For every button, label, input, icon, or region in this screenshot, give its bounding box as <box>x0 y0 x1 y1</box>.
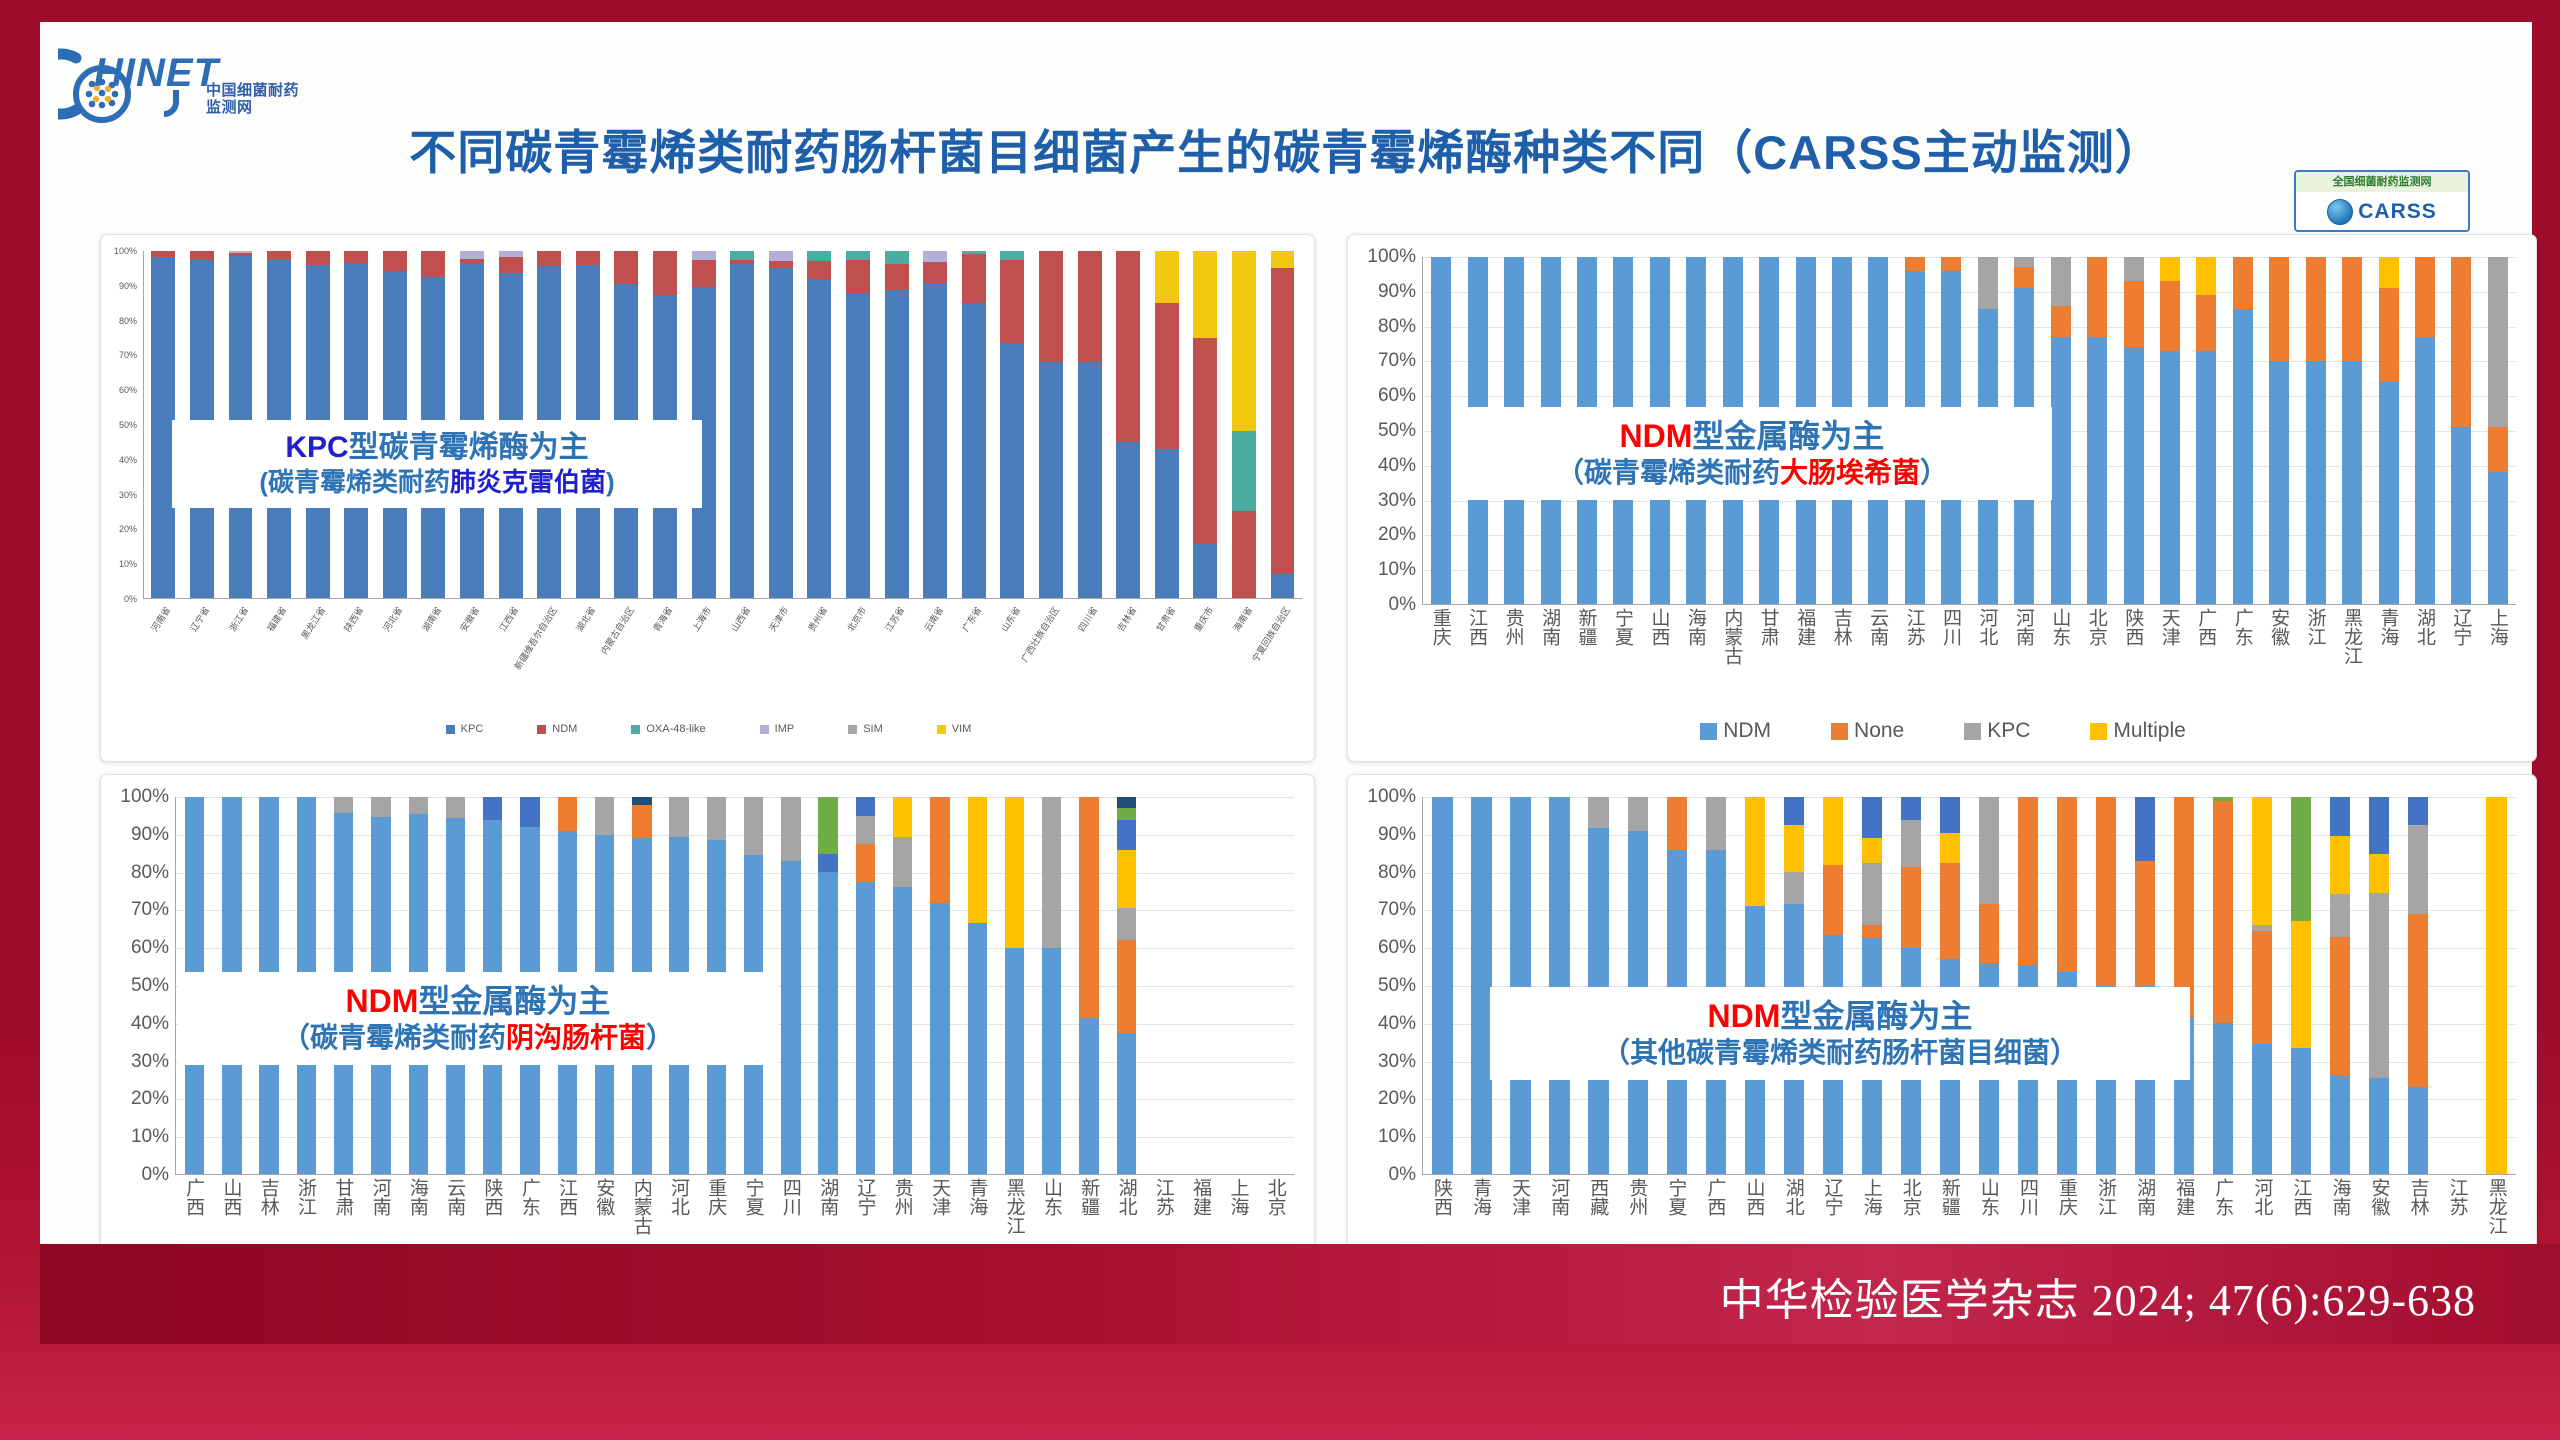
bar-segment <box>2135 861 2155 985</box>
bar-segment <box>1042 948 1061 1174</box>
bar-column[interactable] <box>884 797 921 1174</box>
stacked-bar[interactable] <box>2488 257 2508 604</box>
stacked-bar[interactable] <box>2408 797 2428 1174</box>
stacked-bar[interactable] <box>962 251 986 598</box>
bar-column[interactable] <box>1657 797 1696 1174</box>
bar-column[interactable] <box>2048 797 2087 1174</box>
bar-segment <box>893 887 912 1174</box>
legend-item[interactable]: KPC <box>1964 719 2030 743</box>
bar-column[interactable] <box>1147 251 1186 598</box>
stacked-bar[interactable] <box>1000 251 1024 598</box>
bar-segment <box>1784 797 1804 825</box>
bar-column[interactable] <box>2243 797 2282 1174</box>
x-axis-tick-label: 云南 <box>1859 608 1895 671</box>
stacked-bar[interactable] <box>1940 797 1960 1174</box>
stacked-bar[interactable] <box>1042 797 1061 1174</box>
x-axis-tick-label: 江西 <box>548 1178 585 1241</box>
bar-column[interactable] <box>1696 797 1735 1174</box>
stacked-bar[interactable] <box>1706 797 1726 1174</box>
bar-segment <box>1117 808 1136 819</box>
bar-segment <box>1940 863 1960 959</box>
x-axis-tick-label: 河南 <box>2005 608 2041 671</box>
stacked-bar[interactable] <box>2330 797 2350 1174</box>
x-axis-tick-text: 江西 <box>557 1178 576 1216</box>
bar-segment <box>856 882 875 1174</box>
x-axis-tick-text: 湖北 <box>1784 1178 1803 1216</box>
stacked-bar[interactable] <box>2486 797 2506 1174</box>
bar-segment <box>421 251 445 277</box>
y-axis-tick-label: 50% <box>101 420 137 430</box>
bar-segment <box>2408 825 2428 914</box>
stacked-bar[interactable] <box>1154 797 1173 1174</box>
stacked-bar[interactable] <box>2451 257 2471 604</box>
bar-column[interactable] <box>1774 797 1813 1174</box>
x-axis-tick-text: 新疆 <box>1079 1178 1098 1216</box>
stacked-bar[interactable] <box>2018 797 2038 1174</box>
bar-segment <box>1000 260 1024 343</box>
bar-column[interactable] <box>1186 251 1225 598</box>
stacked-bar[interactable] <box>1228 797 1247 1174</box>
x-axis-tick-label: 浙江 <box>2086 1178 2125 1241</box>
bar-column[interactable] <box>2407 257 2443 604</box>
bar-column[interactable] <box>1109 251 1148 598</box>
carss-badge-top-text: 全国细菌耐药监测网 <box>2296 172 2468 192</box>
bar-segment <box>1901 797 1921 820</box>
bar-segment <box>1232 431 1256 511</box>
x-axis-tick-text: 海南 <box>408 1178 427 1216</box>
bar-column[interactable] <box>1969 797 2008 1174</box>
bar-column[interactable] <box>2225 257 2261 604</box>
bar-segment <box>885 251 909 264</box>
x-axis-tick-label: 广西 <box>175 1178 212 1241</box>
x-axis-tick-text: 宁夏 <box>1613 608 1632 646</box>
bar-column[interactable] <box>2370 257 2406 604</box>
bar-segment <box>2369 893 2389 1078</box>
legend-swatch <box>760 725 769 734</box>
stacked-bar[interactable] <box>968 797 987 1174</box>
bar-segment <box>1116 251 1140 442</box>
stacked-bar[interactable] <box>2306 257 2326 604</box>
bar-segment <box>2369 1078 2389 1174</box>
x-axis-tick-text: 辽宁 <box>855 1178 874 1216</box>
bar-column[interactable] <box>1070 797 1107 1174</box>
stacked-bar[interactable] <box>2096 797 2116 1174</box>
x-axis-tick-label: 山东 <box>1969 1178 2008 1241</box>
bar-column[interactable] <box>1813 797 1852 1174</box>
x-axis-tick-text: 辽宁 <box>1823 1178 1842 1216</box>
bar-column[interactable] <box>1257 797 1294 1174</box>
x-axis-tick-text: 河北 <box>1978 608 1997 646</box>
x-axis-tick-label: 江苏 <box>2438 1178 2477 1241</box>
stacked-bar[interactable] <box>2447 797 2467 1174</box>
legend-swatch <box>2090 723 2107 740</box>
stacked-bar[interactable] <box>769 251 793 598</box>
legend-swatch <box>1831 723 1848 740</box>
stacked-bar[interactable] <box>2233 257 2253 604</box>
bar-column[interactable] <box>993 251 1032 598</box>
x-axis-tick-text: 广东 <box>2213 1178 2232 1216</box>
legend-item[interactable]: SIM <box>848 723 883 735</box>
bar-segment <box>2451 257 2471 427</box>
bar-segment <box>2369 797 2389 854</box>
legend-swatch <box>446 725 455 734</box>
logo-sub-line1: 中国细菌耐药 <box>206 82 299 99</box>
bar-column[interactable] <box>2126 797 2165 1174</box>
bar-column[interactable] <box>1032 251 1071 598</box>
bar-column[interactable] <box>959 797 996 1174</box>
x-axis-tick-label: 上海 <box>1219 1178 1256 1241</box>
bar-column[interactable] <box>1423 797 1462 1174</box>
stacked-bar[interactable] <box>1193 251 1217 598</box>
bar-column[interactable] <box>847 797 884 1174</box>
bar-column[interactable] <box>2008 797 2047 1174</box>
y-axis-tick-label: 60% <box>1348 937 1416 959</box>
bar-segment <box>267 251 291 260</box>
bar-column[interactable] <box>2321 797 2360 1174</box>
stacked-bar[interactable] <box>1191 797 1210 1174</box>
x-axis-tick-text: 北京 <box>1901 1178 1920 1216</box>
bar-column[interactable] <box>996 797 1033 1174</box>
bar-segment <box>846 260 870 293</box>
y-axis-tick-label: 50% <box>1348 420 1416 442</box>
legend-item[interactable]: OXA-48-like <box>631 723 705 735</box>
bar-column[interactable] <box>2443 257 2479 604</box>
bar-column[interactable] <box>2298 257 2334 604</box>
bar-segment <box>2415 337 2435 604</box>
stacked-bar[interactable] <box>846 251 870 598</box>
bar-segment <box>2196 351 2216 604</box>
bar-segment <box>1432 797 1452 1174</box>
bar-column[interactable] <box>1891 797 1930 1174</box>
bar-segment <box>2330 797 2350 836</box>
bar-segment <box>1940 797 1960 833</box>
bar-column[interactable] <box>2165 797 2204 1174</box>
legend-item[interactable]: NDM <box>1700 719 1771 743</box>
x-axis-tick-text: 新疆 <box>1940 1178 1959 1216</box>
x-axis-tick-text: 河南 <box>2014 608 2033 646</box>
bar-column[interactable] <box>1182 797 1219 1174</box>
bar-segment <box>1232 511 1256 598</box>
stacked-bar[interactable] <box>1078 251 1102 598</box>
stacked-bar[interactable] <box>1667 797 1687 1174</box>
bar-column[interactable] <box>2399 797 2438 1174</box>
stacked-bar[interactable] <box>781 797 800 1174</box>
stacked-bar[interactable] <box>730 251 754 598</box>
y-axis-tick-label: 10% <box>101 559 137 569</box>
bar-segment <box>692 251 716 260</box>
x-axis-tick-label: 重庆 <box>1422 608 1458 671</box>
bar-column[interactable] <box>2477 797 2516 1174</box>
stacked-bar[interactable] <box>1116 251 1140 598</box>
legend-item[interactable]: IMP <box>760 723 795 735</box>
bar-segment <box>190 251 214 260</box>
x-axis-tick-label: 陕西 <box>473 1178 510 1241</box>
bar-column[interactable] <box>2188 257 2224 604</box>
x-axis-tick-text: 安徽 <box>2269 608 2288 646</box>
x-axis-tick-label: 新疆 <box>1930 1178 1969 1241</box>
bar-column[interactable] <box>877 251 916 598</box>
bar-column[interactable] <box>2334 257 2370 604</box>
bar-column[interactable] <box>1930 797 1969 1174</box>
bar-column[interactable] <box>916 251 955 598</box>
bar-column[interactable] <box>954 251 993 598</box>
stacked-bar[interactable] <box>893 797 912 1174</box>
stacked-bar[interactable] <box>1745 797 1765 1174</box>
bar-segment <box>1510 797 1530 1174</box>
x-axis-tick-text: 青海 <box>2379 608 2398 646</box>
x-axis-tick-label: 贵州 <box>1495 608 1531 671</box>
bar-column[interactable] <box>1501 797 1540 1174</box>
bar-segment <box>962 254 986 303</box>
bar-column[interactable] <box>1108 797 1145 1174</box>
y-axis-tick-label: 40% <box>1348 455 1416 477</box>
x-axis-tick-label: 贵州 <box>1617 1178 1656 1241</box>
stacked-bar[interactable] <box>807 251 831 598</box>
stacked-bar[interactable] <box>2269 257 2289 604</box>
callout-line2: （碳青霉烯类耐药阴沟肠杆菌） <box>194 1021 762 1055</box>
bar-column[interactable] <box>2261 257 2297 604</box>
stacked-bar[interactable] <box>1901 797 1921 1174</box>
bar-segment <box>595 797 614 835</box>
bar-segment <box>2087 257 2107 337</box>
bar-column[interactable] <box>762 251 801 598</box>
y-axis-tick-label: 90% <box>1348 281 1416 303</box>
stacked-bar[interactable] <box>1823 797 1843 1174</box>
bar-column[interactable] <box>2204 797 2243 1174</box>
stacked-bar[interactable] <box>2087 257 2107 604</box>
x-axis-tick-text: 陕西 <box>483 1178 502 1216</box>
x-axis-tick-text: 河南 <box>371 1178 390 1216</box>
bar-column[interactable] <box>2087 797 2126 1174</box>
legend-item[interactable]: Multiple <box>2090 719 2185 743</box>
x-axis-tick-label: 上海 <box>1852 1178 1891 1241</box>
stacked-bar[interactable] <box>1155 251 1179 598</box>
bar-column[interactable] <box>1852 797 1891 1174</box>
bar-column[interactable] <box>1033 797 1070 1174</box>
callout-line2: (碳青霉烯类耐药肺炎克雷伯菌) <box>188 467 686 499</box>
bar-column[interactable] <box>2480 257 2516 604</box>
stacked-bar[interactable] <box>2174 797 2194 1174</box>
bar-segment <box>730 251 754 260</box>
x-axis-tick-label: 宁夏 <box>1604 608 1640 671</box>
legend-item[interactable]: VIM <box>937 723 972 735</box>
bar-segment <box>1042 797 1061 948</box>
bar-column[interactable] <box>1219 797 1256 1174</box>
bar-column[interactable] <box>723 251 762 598</box>
bar-segment <box>1862 925 1882 938</box>
x-axis-tick-label: 湖南 <box>809 1178 846 1241</box>
bar-segment <box>2160 257 2180 281</box>
stacked-bar[interactable] <box>1117 797 1136 1174</box>
bar-segment <box>1117 850 1136 908</box>
bar-segment <box>1431 257 1451 604</box>
bar-segment <box>1784 872 1804 904</box>
stacked-bar[interactable] <box>923 251 947 598</box>
stacked-bar[interactable] <box>2342 257 2362 604</box>
stacked-bar[interactable] <box>1232 251 1256 598</box>
bar-segment <box>2379 288 2399 382</box>
bar-column[interactable] <box>2438 797 2477 1174</box>
bar-segment <box>2196 295 2216 351</box>
y-axis-tick-label: 60% <box>101 937 169 959</box>
x-axis-tick-label: 陕西 <box>1422 1178 1461 1241</box>
stacked-bar[interactable] <box>2124 257 2144 604</box>
x-axis-tick-label: 青海 <box>1461 1178 1500 1241</box>
stacked-bar[interactable] <box>1005 797 1024 1174</box>
x-axis-tick-label: 天津 <box>2151 608 2187 671</box>
x-axis-tick-label: 吉林 <box>2399 1178 2438 1241</box>
bar-column[interactable] <box>1070 251 1109 598</box>
bar-segment <box>2306 257 2326 361</box>
stacked-bar[interactable] <box>1271 251 1295 598</box>
stacked-bar[interactable] <box>2051 257 2071 604</box>
stacked-bar[interactable] <box>2415 257 2435 604</box>
bar-segment <box>1901 820 1921 867</box>
x-axis-tick-text: 湖南 <box>818 1178 837 1216</box>
x-axis-tick-label: 广东 <box>511 1178 548 1241</box>
callout-line1-rest: 型碳青霉烯酶为主 <box>349 431 589 464</box>
x-axis-tick-text: 河北 <box>2252 1178 2271 1216</box>
bar-segment <box>334 797 353 813</box>
stacked-bar[interactable] <box>2369 797 2389 1174</box>
stacked-bar[interactable] <box>2291 797 2311 1174</box>
stacked-bar[interactable] <box>2379 257 2399 604</box>
stacked-bar[interactable] <box>1431 257 1451 604</box>
x-axis-tick-text: 山东 <box>2050 608 2069 646</box>
stacked-bar[interactable] <box>2196 257 2216 604</box>
callout-line2-pre: （其他碳青霉烯类耐药肠杆菌目细菌 <box>1602 1037 2050 1068</box>
stacked-bar[interactable] <box>1784 797 1804 1174</box>
y-axis-tick-label: 0% <box>101 1164 169 1186</box>
y-axis-tick-label: 10% <box>1348 1126 1416 1148</box>
y-axis-tick-label: 0% <box>101 594 137 604</box>
bar-segment <box>1901 867 1921 948</box>
x-axis-tick-text: 云南 <box>445 1178 464 1216</box>
y-axis-tick-label: 0% <box>1348 594 1416 616</box>
slide-content-card: HINET 中国细菌耐药 监测网 不同碳青霉烯类耐药肠杆菌目细菌产生的碳青霉烯酶… <box>40 22 2532 1344</box>
bar-column[interactable] <box>1618 797 1657 1174</box>
bar-column[interactable] <box>1735 797 1774 1174</box>
x-axis-tick-text: 福建 <box>1795 608 1814 646</box>
bar-column[interactable] <box>1579 797 1618 1174</box>
stacked-bar[interactable] <box>1588 797 1608 1174</box>
x-axis-tick-label: 北京 <box>2078 608 2114 671</box>
x-axis-tick-label: 安徽 <box>2360 1178 2399 1241</box>
bar-column[interactable] <box>921 797 958 1174</box>
callout-line2-highlight: 阴沟肠杆菌 <box>506 1022 646 1053</box>
x-axis-tick-text: 山东 <box>1042 1178 1061 1216</box>
globe-icon <box>2327 199 2353 225</box>
x-axis-tick-text: 湖北 <box>2415 608 2434 646</box>
bar-column[interactable] <box>2079 257 2115 604</box>
bar-segment <box>846 251 870 260</box>
callout-line2-post: ） <box>2050 1037 2078 1068</box>
bar-segment <box>2408 1087 2428 1174</box>
chart-legend: NDMNoneKPCMultiple <box>1348 719 2538 743</box>
stacked-bar[interactable] <box>1432 797 1452 1174</box>
bar-segment <box>1155 251 1179 303</box>
stacked-bar[interactable] <box>1039 251 1063 598</box>
x-axis-tick-text: 贵州 <box>1504 608 1523 646</box>
bar-column[interactable] <box>1225 251 1264 598</box>
bar-segment <box>1271 251 1295 268</box>
bar-column[interactable] <box>810 797 847 1174</box>
bar-segment <box>483 797 502 820</box>
x-axis-labels: 重庆江西贵州湖南新疆宁夏山西海南内蒙古甘肃福建吉林云南江苏四川河北河南山东北京陕… <box>1422 608 2516 671</box>
bar-segment <box>769 261 793 268</box>
stacked-bar[interactable] <box>1510 797 1530 1174</box>
stacked-bar[interactable] <box>2135 797 2155 1174</box>
legend-item[interactable]: None <box>1831 719 1904 743</box>
bar-column[interactable] <box>1462 797 1501 1174</box>
chart-legend: KPCNDMOXA-48-likeIMPSIMVIM <box>101 723 1316 735</box>
bar-segment <box>1941 257 1961 271</box>
x-axis-tick-text: 重庆 <box>1431 608 1450 646</box>
x-axis-tick-label: 天津 <box>1500 1178 1539 1241</box>
legend-swatch <box>937 725 946 734</box>
stacked-bar[interactable] <box>930 797 949 1174</box>
bar-column[interactable] <box>1540 797 1579 1174</box>
bar-column[interactable] <box>1263 251 1302 598</box>
bar-group <box>1423 797 2516 1174</box>
bar-column[interactable] <box>2152 257 2188 604</box>
x-axis-tick-text: 内蒙古 <box>632 1178 651 1235</box>
x-axis-tick-label: 陕西 <box>2115 608 2151 671</box>
x-axis-labels: 广西山西吉林浙江甘肃河南海南云南陕西广东江西安徽内蒙古河北重庆宁夏四川湖南辽宁贵… <box>175 1178 1294 1241</box>
stacked-bar[interactable] <box>1628 797 1648 1174</box>
x-axis-tick-text: 陕西 <box>1432 1178 1451 1216</box>
bar-segment <box>1862 838 1882 863</box>
stacked-bar[interactable] <box>2213 797 2233 1174</box>
stacked-bar[interactable] <box>2057 797 2077 1174</box>
bar-segment <box>730 264 754 598</box>
stacked-bar[interactable] <box>2160 257 2180 604</box>
bar-column[interactable] <box>2282 797 2321 1174</box>
callout-line2-pre: （碳青霉烯类耐药 <box>1556 457 1780 488</box>
stacked-bar[interactable] <box>1549 797 1569 1174</box>
bar-segment <box>409 797 428 814</box>
x-axis-tick-label: 山东 <box>1033 1178 1070 1241</box>
x-axis-tick-label: 福建 <box>1182 1178 1219 1241</box>
legend-item[interactable]: NDM <box>537 723 577 735</box>
stacked-bar[interactable] <box>2252 797 2272 1174</box>
bar-segment <box>2124 257 2144 281</box>
stacked-bar[interactable] <box>885 251 909 598</box>
stacked-bar[interactable] <box>1471 797 1491 1174</box>
bar-column[interactable] <box>2115 257 2151 604</box>
stacked-bar[interactable] <box>1979 797 1999 1174</box>
stacked-bar[interactable] <box>1079 797 1098 1174</box>
stacked-bar[interactable] <box>1862 797 1882 1174</box>
x-axis-tick-label: 上海 <box>2479 608 2515 671</box>
bar-column[interactable] <box>2360 797 2399 1174</box>
bar-segment <box>1116 442 1140 598</box>
legend-item[interactable]: KPC <box>446 723 484 735</box>
stacked-bar[interactable] <box>818 797 837 1174</box>
bar-column[interactable] <box>1145 797 1182 1174</box>
stacked-bar[interactable] <box>856 797 875 1174</box>
bar-segment <box>306 251 330 265</box>
bar-column[interactable] <box>800 251 839 598</box>
x-axis-tick-text: 青海 <box>967 1178 986 1216</box>
x-axis-tick-label: 青海 <box>2370 608 2406 671</box>
stacked-bar[interactable] <box>1266 797 1285 1174</box>
y-axis-tick-label: 50% <box>1348 975 1416 997</box>
x-axis-tick-label: 黑龙江 <box>2477 1178 2516 1241</box>
bar-column[interactable] <box>839 251 878 598</box>
x-axis-tick-label: 广东 <box>2224 608 2260 671</box>
bar-segment <box>2342 361 2362 604</box>
